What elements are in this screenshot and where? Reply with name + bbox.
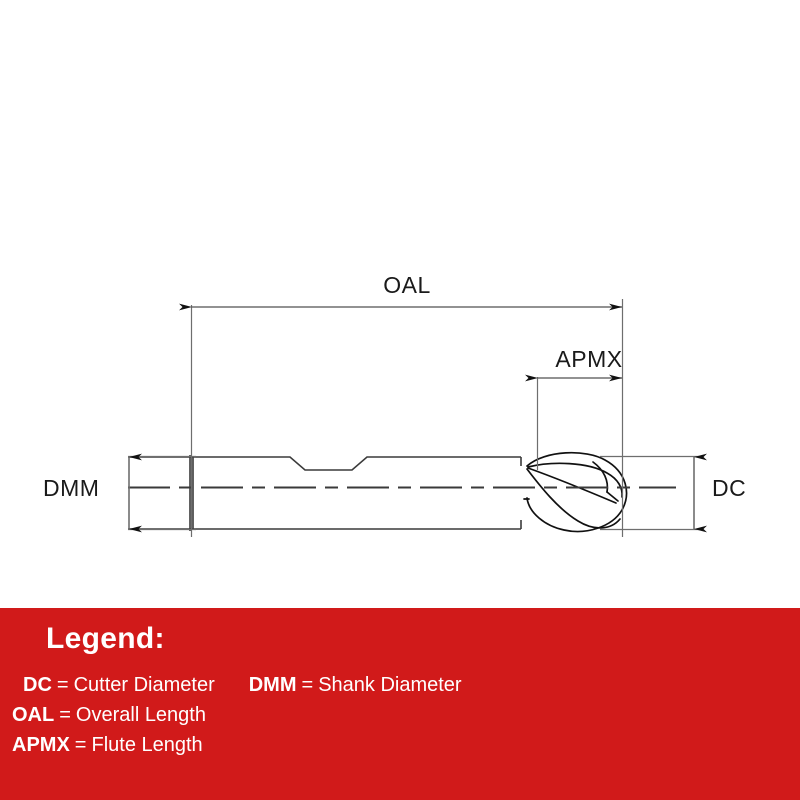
legend-entry-dc: DC = Cutter Diameter — [23, 674, 215, 697]
legend-entry-dmm: DMM = Shank Diameter — [249, 674, 462, 697]
legend-equals: = — [302, 674, 314, 697]
legend-desc-oal: Overall Length — [76, 704, 206, 727]
legend-rows: DC = Cutter Diameter DMM = Shank Diamete… — [12, 674, 792, 764]
legend-code-apmx: APMX — [12, 734, 70, 757]
legend-title: Legend: — [46, 622, 165, 655]
legend-entry-oal: OAL = Overall Length — [12, 704, 206, 727]
legend-desc-dc: Cutter Diameter — [74, 674, 215, 697]
dimension-label-apmx: APMX — [555, 346, 622, 372]
end-mill-drawing-svg: OAL APMX DMM DC — [0, 0, 800, 608]
legend-banner: Legend: DC = Cutter Diameter DMM = Shank… — [0, 608, 800, 800]
dimension-apmx: APMX — [538, 346, 623, 378]
legend-code-oal: OAL — [12, 704, 54, 727]
legend-row: DC = Cutter Diameter DMM = Shank Diamete… — [12, 674, 792, 704]
page-root: OAL APMX DMM DC Legend: — [0, 0, 800, 800]
legend-desc-apmx: Flute Length — [91, 734, 202, 757]
dimension-label-oal: OAL — [383, 272, 431, 298]
dimension-dmm: DMM — [43, 457, 129, 529]
legend-code-dc: DC — [23, 674, 52, 697]
legend-equals: = — [75, 734, 87, 757]
legend-row: APMX = Flute Length — [12, 734, 792, 764]
legend-equals: = — [57, 674, 69, 697]
dimension-oal: OAL — [192, 272, 622, 307]
legend-desc-dmm: Shank Diameter — [318, 674, 461, 697]
dimension-label-dmm: DMM — [43, 475, 99, 501]
cutting-head — [524, 453, 626, 532]
dimension-dc: DC — [694, 457, 746, 529]
legend-row: OAL = Overall Length — [12, 704, 792, 734]
legend-equals: = — [59, 704, 71, 727]
extension-lines — [128, 299, 700, 537]
tool-body-outline — [128, 455, 521, 531]
shank-top-profile — [128, 457, 521, 470]
legend-entry-apmx: APMX = Flute Length — [12, 734, 203, 757]
dimension-label-dc: DC — [712, 475, 746, 501]
legend-code-dmm: DMM — [249, 674, 297, 697]
technical-drawing: OAL APMX DMM DC — [0, 0, 800, 608]
